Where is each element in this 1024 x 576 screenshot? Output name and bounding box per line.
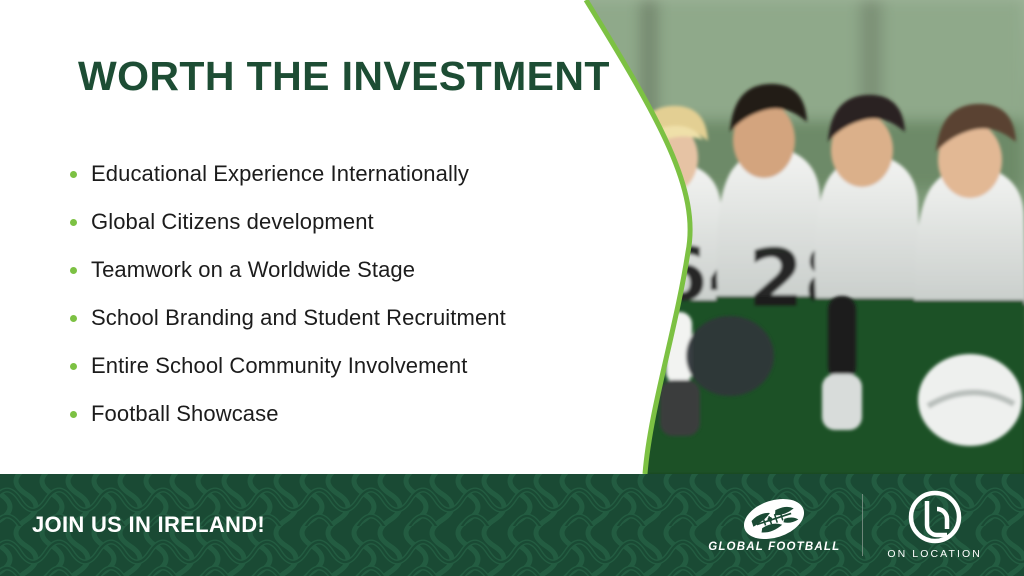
list-item-label: Global Citizens development	[91, 208, 374, 236]
bullet-dot-icon	[70, 315, 77, 322]
list-item-label: Educational Experience Internationally	[91, 160, 469, 188]
bullet-dot-icon	[70, 267, 77, 274]
global-football-logo[interactable]: GLOBAL FOOTBALL	[686, 498, 862, 553]
list-item-label: Teamwork on a Worldwide Stage	[91, 256, 415, 284]
list-item-label: Entire School Community Involvement	[91, 352, 467, 380]
list-item: Global Citizens development	[70, 208, 650, 236]
footer-cta-label: JOIN US IN IRELAND!	[32, 474, 265, 576]
bullet-dot-icon	[70, 171, 77, 178]
footer-logos: GLOBAL FOOTBALL ON LOCATION	[686, 474, 1006, 576]
list-item: Entire School Community Involvement	[70, 352, 650, 380]
benefits-list: Educational Experience Internationally G…	[70, 160, 650, 448]
on-location-monogram-icon	[908, 490, 962, 544]
list-item: Teamwork on a Worldwide Stage	[70, 256, 650, 284]
page-title: WORTH THE INVESTMENT	[78, 54, 610, 99]
list-item-label: School Branding and Student Recruitment	[91, 304, 506, 332]
on-location-logo[interactable]: ON LOCATION	[863, 490, 1006, 560]
bullet-dot-icon	[70, 411, 77, 418]
on-location-label: ON LOCATION	[887, 548, 982, 560]
global-football-label: GLOBAL FOOTBALL	[708, 541, 840, 553]
bullet-dot-icon	[70, 219, 77, 226]
slide-content: WORTH THE INVESTMENT Educational Experie…	[0, 0, 660, 474]
list-item: Football Showcase	[70, 400, 650, 428]
list-item-label: Football Showcase	[91, 400, 279, 428]
list-item: Educational Experience Internationally	[70, 160, 650, 188]
globe-football-icon	[726, 498, 822, 540]
list-item: School Branding and Student Recruitment	[70, 304, 650, 332]
logo-divider	[862, 494, 863, 556]
bullet-dot-icon	[70, 363, 77, 370]
footer-banner: JOIN US IN IRELAND!	[0, 474, 1024, 576]
slide-root: 64 28	[0, 0, 1024, 576]
